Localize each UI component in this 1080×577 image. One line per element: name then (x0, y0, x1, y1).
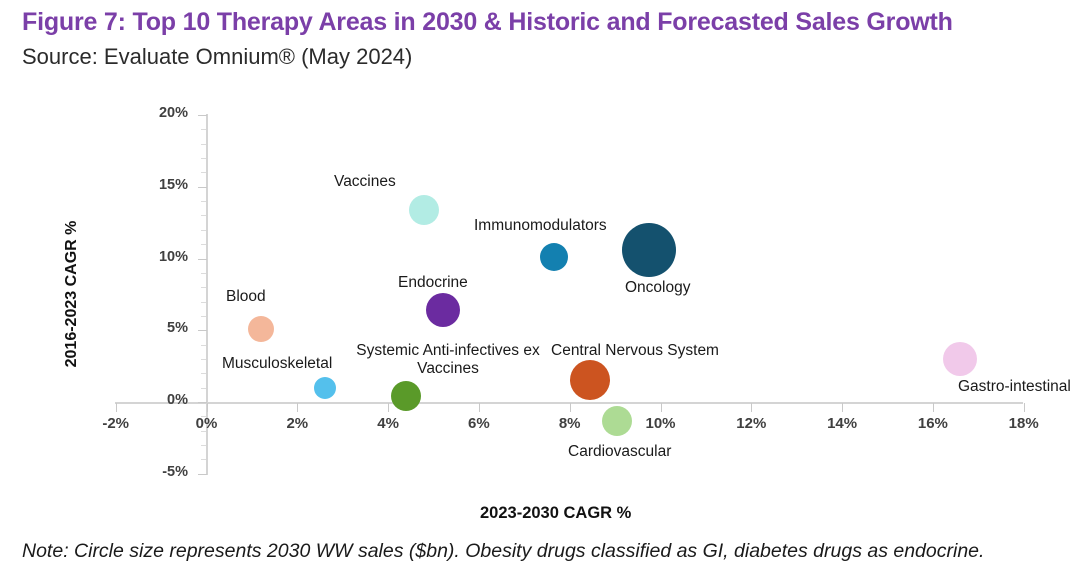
x-tick-label: 18% (989, 415, 1059, 432)
x-tick-label: 10% (626, 415, 696, 432)
bubble-label: Blood (226, 288, 266, 306)
y-tick-minor (201, 302, 206, 303)
x-tick-mark (479, 403, 480, 412)
bubble-point[interactable] (570, 360, 610, 400)
bubble-point[interactable] (409, 195, 439, 225)
y-tick-minor (201, 459, 206, 460)
x-tick-mark (1024, 403, 1025, 412)
y-tick-minor (201, 416, 206, 417)
bubble-label: Cardiovascular (568, 443, 671, 461)
y-tick-minor (201, 273, 206, 274)
y-tick-minor (201, 144, 206, 145)
y-tick-minor (201, 201, 206, 202)
y-tick-label: 15% (128, 177, 188, 193)
bubble-label: Oncology (625, 279, 690, 297)
chart-note: Note: Circle size represents 2030 WW sal… (22, 540, 984, 563)
y-tick-minor (201, 287, 206, 288)
bubble-label: Vaccines (334, 173, 396, 191)
x-tick-mark (570, 403, 571, 412)
x-tick-label: 2% (262, 415, 332, 432)
bubble-point[interactable] (426, 293, 460, 327)
x-tick-label: 8% (535, 415, 605, 432)
y-tick-minor (201, 230, 206, 231)
y-tick-mark (198, 330, 207, 331)
y-tick-minor (201, 244, 206, 245)
scatter-plot: -2%0%2%4%6%8%10%12%14%16%18% 20%15%10%5%… (0, 0, 1080, 577)
y-tick-label: 5% (128, 320, 188, 336)
y-tick-minor (201, 172, 206, 173)
x-tick-mark (207, 403, 208, 412)
y-tick-minor (201, 345, 206, 346)
y-tick-minor (201, 158, 206, 159)
bubble-label: Immunomodulators (474, 217, 607, 235)
y-tick-label: -5% (128, 464, 188, 480)
y-tick-minor (201, 129, 206, 130)
y-tick-minor (201, 359, 206, 360)
y-tick-mark (198, 259, 207, 260)
bubble-point[interactable] (943, 342, 977, 376)
x-tick-mark (116, 403, 117, 412)
x-tick-label: 14% (807, 415, 877, 432)
bubble-point[interactable] (248, 316, 274, 342)
bubble-point[interactable] (540, 243, 568, 271)
x-tick-mark (388, 403, 389, 412)
y-tick-label: 20% (128, 105, 188, 121)
x-tick-label: 6% (444, 415, 514, 432)
x-axis-title: 2023-2030 CAGR % (480, 504, 631, 523)
bubble-label: Central Nervous System (551, 342, 719, 360)
y-tick-minor (201, 388, 206, 389)
y-tick-mark (198, 402, 207, 403)
y-axis-title: 2016-2023 CAGR % (63, 194, 81, 394)
y-tick-minor (201, 316, 206, 317)
bubble-point[interactable] (314, 377, 336, 399)
bubble-point[interactable] (622, 223, 676, 277)
x-tick-label: -2% (81, 415, 151, 432)
x-tick-mark (842, 403, 843, 412)
x-tick-label: 12% (716, 415, 786, 432)
bubble-label: Musculoskeletal (222, 355, 332, 373)
x-tick-mark (297, 403, 298, 412)
y-tick-minor (201, 445, 206, 446)
x-tick-label: 4% (353, 415, 423, 432)
bubble-label: Endocrine (398, 274, 468, 292)
x-tick-mark (661, 403, 662, 412)
y-tick-minor (201, 373, 206, 374)
y-tick-label: 0% (128, 392, 188, 408)
y-tick-mark (198, 474, 207, 475)
bubble-point[interactable] (602, 406, 632, 436)
y-tick-label: 10% (128, 249, 188, 265)
bubble-label: Gastro-intestinal (958, 378, 1071, 396)
bubble-point[interactable] (391, 381, 421, 411)
x-tick-mark (751, 403, 752, 412)
y-tick-mark (198, 187, 207, 188)
y-tick-minor (201, 215, 206, 216)
x-tick-label: 0% (172, 415, 242, 432)
x-tick-label: 16% (898, 415, 968, 432)
bubble-label: Systemic Anti-infectives ex Vaccines (333, 342, 563, 379)
y-tick-minor (201, 431, 206, 432)
y-tick-mark (198, 115, 207, 116)
x-tick-mark (933, 403, 934, 412)
